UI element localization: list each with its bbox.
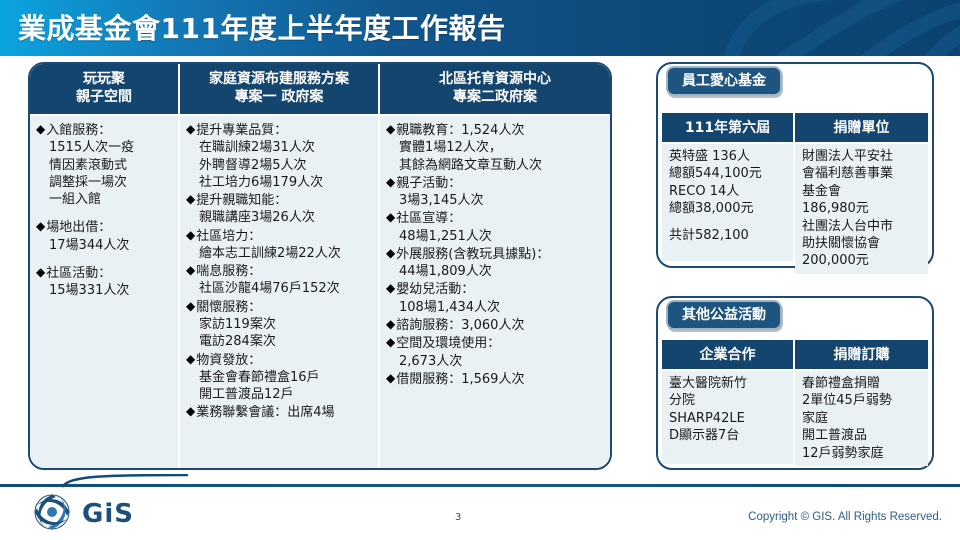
staff-fund-badge: 員工愛心基金 — [666, 66, 782, 96]
bullet-title-text: 諮詢服務：3,060人次 — [396, 317, 606, 334]
bullet-title: ◆親子活動： — [386, 175, 606, 192]
program-column-2-body: ◆提升專業品質：在職訓練2場31人次外聘督導2場5人次社工培力6場179人次◆提… — [180, 116, 378, 468]
bullet-subline: 家訪119案次 — [186, 316, 374, 333]
bullet-subline: 電訪284案次 — [186, 333, 374, 350]
bullet-title: ◆諮詢服務：3,060人次 — [386, 317, 606, 334]
bullet-item: ◆親職教育：1,524人次實體1場12人次，其餘為網路文章互動人次 — [386, 122, 606, 174]
bullet-item: ◆借閱服務：1,569人次 — [386, 371, 606, 388]
bullet-item: ◆社區培力：繪本志工訓練2場22人次 — [186, 228, 374, 263]
bullet-title-text: 關懷服務： — [196, 299, 374, 316]
bullet-subline: 調整採一場次 — [36, 174, 174, 191]
bullet-subline: 情因素滾動式 — [36, 157, 174, 174]
diamond-bullet-icon: ◆ — [386, 210, 395, 226]
donation-line: 開工普渡品 — [802, 427, 924, 444]
diamond-bullet-icon: ◆ — [186, 192, 195, 208]
staff-fund-line: 總額38,000元 — [669, 200, 789, 217]
bullet-item: ◆諮詢服務：3,060人次 — [386, 317, 606, 334]
bullet-subline: 44場1,809人次 — [386, 263, 606, 280]
diamond-bullet-icon: ◆ — [36, 265, 45, 281]
diamond-bullet-icon: ◆ — [386, 317, 395, 333]
bullet-title: ◆業務聯繫會議：出席4場 — [186, 404, 374, 421]
other-charity-table: 企業合作 臺大醫院新竹分院SHARP42LED顯示器7台 捐贈訂購 春節禮盒捐贈… — [662, 340, 928, 464]
bullet-title-text: 入館服務： — [46, 122, 174, 139]
corporate-line: SHARP42LE — [669, 410, 789, 427]
bullet-item: ◆社區活動：15場331人次 — [36, 265, 174, 300]
bullet-subline: 社區沙龍4場76戶152次 — [186, 280, 374, 297]
bullet-item: ◆空間及環境使用：2,673人次 — [386, 335, 606, 370]
bullet-title-text: 喘息服務： — [196, 263, 374, 280]
bullet-subline: 17場344人次 — [36, 237, 174, 254]
bullet-subline: 1515人次一疫 — [36, 139, 174, 156]
header-line-2: 親子空間 — [32, 88, 176, 106]
diamond-bullet-icon: ◆ — [186, 122, 195, 138]
donor-line: 會福利慈善事業 — [802, 165, 924, 182]
bullet-item: ◆外展服務(含教玩具據點)：44場1,809人次 — [386, 246, 606, 281]
staff-fund-line: 英特盛 136人 — [669, 148, 789, 165]
staff-fund-line: 總額544,100元 — [669, 165, 789, 182]
bullet-subline: 外聘督導2場5人次 — [186, 157, 374, 174]
bullet-title-text: 外展服務(含教玩具據點)： — [396, 246, 606, 263]
program-column-1-header: 玩玩聚親子空間 — [30, 64, 178, 116]
staff-fund-column-1: 111年第六屆 英特盛 136人總額544,100元RECO 14人總額38,0… — [662, 113, 795, 261]
donor-line: 社團法人台中市 — [802, 218, 924, 235]
bullet-title: ◆提升專業品質： — [186, 122, 374, 139]
bullet-title: ◆提升親職知能： — [186, 192, 374, 209]
staff-fund-col1-body: 英特盛 136人總額544,100元RECO 14人總額38,000元共計582… — [662, 144, 793, 261]
diamond-bullet-icon: ◆ — [386, 335, 395, 351]
header-line-1: 北區托育資源中心 — [382, 70, 608, 88]
bullet-subline: 基金會春節禮盒16戶 — [186, 369, 374, 386]
other-charity-badge: 其他公益活動 — [666, 300, 782, 330]
bullet-title: ◆關懷服務： — [186, 299, 374, 316]
bullet-title: ◆外展服務(含教玩具據點)： — [386, 246, 606, 263]
slide-root: 業成基金會111年度上半年度工作報告 玩玩聚親子空間◆入館服務：1515人次一疫… — [0, 0, 960, 540]
header-line-1: 家庭資源布建服務方案 — [182, 70, 376, 88]
bullet-subline: 社工培力6場179人次 — [186, 174, 374, 191]
other-charity-col2-body: 春節禮盒捐贈2單位45戶弱勢家庭開工普渡品12戶弱勢家庭 — [795, 371, 928, 466]
bullet-title: ◆親職教育：1,524人次 — [386, 122, 606, 139]
corporate-line: D顯示器7台 — [669, 427, 789, 444]
donation-line: 家庭 — [802, 410, 924, 427]
footer-divider — [0, 484, 960, 487]
bullet-item: ◆物資發放：基金會春節禮盒16戶開工普渡品12戶 — [186, 352, 374, 404]
bullet-title-text: 提升親職知能： — [196, 192, 374, 209]
program-column-1-body: ◆入館服務：1515人次一疫情因素滾動式調整採一場次一組入館◆場地出借：17場3… — [30, 116, 178, 468]
spacer — [36, 209, 174, 219]
diamond-bullet-icon: ◆ — [186, 352, 195, 368]
bullet-item: ◆提升親職知能：親職講座3場26人次 — [186, 192, 374, 227]
bullet-title-text: 借閱服務：1,569人次 — [396, 371, 606, 388]
bullet-subline: 15場331人次 — [36, 282, 174, 299]
program-columns: 玩玩聚親子空間◆入館服務：1515人次一疫情因素滾動式調整採一場次一組入館◆場地… — [30, 64, 610, 468]
diamond-bullet-icon: ◆ — [36, 122, 45, 138]
staff-fund-col2-body: 財團法人平安社會福利慈善事業基金會186,980元社團法人台中市助扶關懷協會20… — [795, 144, 928, 274]
header-line-2: 專案二政府案 — [382, 88, 608, 106]
staff-fund-line: 共計582,100 — [669, 227, 789, 244]
bullet-title-text: 親職教育：1,524人次 — [396, 122, 606, 139]
bullet-title-text: 嬰幼兒活動： — [396, 281, 606, 298]
bullet-title-text: 業務聯繫會議：出席4場 — [196, 404, 374, 421]
bullet-item: ◆親子活動：3場3,145人次 — [386, 175, 606, 210]
staff-fund-line: RECO 14人 — [669, 183, 789, 200]
bullet-subline: 實體1場12人次， — [386, 139, 606, 156]
bullet-item: ◆喘息服務：社區沙龍4場76戶152次 — [186, 263, 374, 298]
spacer — [669, 218, 789, 227]
diamond-bullet-icon: ◆ — [186, 404, 195, 420]
bullet-subline: 開工普渡品12戶 — [186, 386, 374, 403]
bullet-subline: 2,673人次 — [386, 353, 606, 370]
bullet-title-text: 社區培力： — [196, 228, 374, 245]
staff-fund-col1-header: 111年第六屆 — [662, 113, 793, 144]
diamond-bullet-icon: ◆ — [36, 219, 45, 235]
donation-line: 春節禮盒捐贈 — [802, 375, 924, 392]
donation-line: 2單位45戶弱勢 — [802, 392, 924, 409]
gis-logo-text: GiS — [82, 499, 134, 529]
bullet-item: ◆入館服務：1515人次一疫情因素滾動式調整採一場次一組入館 — [36, 122, 174, 208]
bullet-title-text: 社區活動： — [46, 265, 174, 282]
bullet-title: ◆空間及環境使用： — [386, 335, 606, 352]
diamond-bullet-icon: ◆ — [386, 281, 395, 297]
copyright-text: Copyright © GIS. All Rights Reserved. — [748, 511, 942, 523]
bullet-subline: 48場1,251人次 — [386, 228, 606, 245]
donor-line: 財團法人平安社 — [802, 148, 924, 165]
program-column-3-body: ◆親職教育：1,524人次實體1場12人次，其餘為網路文章互動人次◆親子活動：3… — [380, 116, 610, 468]
bullet-title: ◆社區培力： — [186, 228, 374, 245]
other-charity-col1-header: 企業合作 — [662, 340, 793, 371]
program-column-1: 玩玩聚親子空間◆入館服務：1515人次一疫情因素滾動式調整採一場次一組入館◆場地… — [30, 64, 180, 468]
bullet-subline: 繪本志工訓練2場22人次 — [186, 245, 374, 262]
other-charity-col2-header: 捐贈訂購 — [795, 340, 928, 371]
page-number: 3 — [455, 512, 461, 523]
other-charity-column-1: 企業合作 臺大醫院新竹分院SHARP42LED顯示器7台 — [662, 340, 795, 464]
bullet-subline: 在職訓練2場31人次 — [186, 139, 374, 156]
bullet-subline: 3場3,145人次 — [386, 192, 606, 209]
swoosh-decoration-icon — [710, 0, 960, 56]
diamond-bullet-icon: ◆ — [386, 246, 395, 262]
bullet-item: ◆嬰幼兒活動：108場1,434人次 — [386, 281, 606, 316]
corporate-line: 臺大醫院新竹 — [669, 375, 789, 392]
bullet-item: ◆關懷服務：家訪119案次電訪284案次 — [186, 299, 374, 351]
bullet-title-text: 場地出借： — [46, 219, 174, 236]
bullet-subline: 一組入館 — [36, 191, 174, 208]
bullet-title: ◆喘息服務： — [186, 263, 374, 280]
staff-fund-table: 111年第六屆 英特盛 136人總額544,100元RECO 14人總額38,0… — [662, 113, 928, 261]
spacer — [36, 255, 174, 265]
bullet-subline: 其餘為網路文章互動人次 — [386, 157, 606, 174]
bullet-title: ◆嬰幼兒活動： — [386, 281, 606, 298]
program-column-2: 家庭資源布建服務方案專案一 政府案◆提升專業品質：在職訓練2場31人次外聘督導2… — [180, 64, 380, 468]
page-title: 業成基金會111年度上半年度工作報告 — [18, 7, 505, 47]
header-line-1: 玩玩聚 — [32, 70, 176, 88]
main-content-panel: 玩玩聚親子空間◆入館服務：1515人次一疫情因素滾動式調整採一場次一組入館◆場地… — [28, 62, 612, 470]
diamond-bullet-icon: ◆ — [386, 371, 395, 387]
bullet-title-text: 空間及環境使用： — [396, 335, 606, 352]
bullet-item: ◆社區宣導：48場1,251人次 — [386, 210, 606, 245]
bullet-title: ◆物資發放： — [186, 352, 374, 369]
bullet-title-text: 物資發放： — [196, 352, 374, 369]
bullet-item: ◆場地出借：17場344人次 — [36, 219, 174, 254]
donor-line: 200,000元 — [802, 252, 924, 269]
slide-title-bar: 業成基金會111年度上半年度工作報告 — [0, 0, 960, 56]
gis-logo-icon: GiS — [30, 492, 190, 532]
program-column-3-header: 北區托育資源中心專案二政府案 — [380, 64, 610, 116]
donation-line: 12戶弱勢家庭 — [802, 445, 924, 462]
bullet-title-text: 提升專業品質： — [196, 122, 374, 139]
other-charity-col1-body: 臺大醫院新竹分院SHARP42LED顯示器7台 — [662, 371, 793, 464]
bullet-subline: 108場1,434人次 — [386, 299, 606, 316]
bullet-title: ◆場地出借： — [36, 219, 174, 236]
bullet-title-text: 親子活動： — [396, 175, 606, 192]
diamond-bullet-icon: ◆ — [186, 299, 195, 315]
program-column-2-header: 家庭資源布建服務方案專案一 政府案 — [180, 64, 378, 116]
other-charity-column-2: 捐贈訂購 春節禮盒捐贈2單位45戶弱勢家庭開工普渡品12戶弱勢家庭 — [795, 340, 928, 464]
diamond-bullet-icon: ◆ — [386, 122, 395, 138]
diamond-bullet-icon: ◆ — [186, 228, 195, 244]
staff-fund-col2-header: 捐贈單位 — [795, 113, 928, 144]
diamond-bullet-icon: ◆ — [386, 175, 395, 191]
donor-line: 助扶關懷協會 — [802, 235, 924, 252]
bullet-item: ◆業務聯繫會議：出席4場 — [186, 404, 374, 421]
header-line-2: 專案一 政府案 — [182, 88, 376, 106]
donor-line: 186,980元 — [802, 200, 924, 217]
bullet-title: ◆社區宣導： — [386, 210, 606, 227]
diamond-bullet-icon: ◆ — [186, 263, 195, 279]
staff-fund-column-2: 捐贈單位 財團法人平安社會福利慈善事業基金會186,980元社團法人台中市助扶關… — [795, 113, 928, 261]
donor-line: 基金會 — [802, 183, 924, 200]
program-column-3: 北區托育資源中心專案二政府案◆親職教育：1,524人次實體1場12人次，其餘為網… — [380, 64, 610, 468]
bullet-title: ◆借閱服務：1,569人次 — [386, 371, 606, 388]
bullet-subline: 親職講座3場26人次 — [186, 209, 374, 226]
corporate-line: 分院 — [669, 392, 789, 409]
bullet-title-text: 社區宣導： — [396, 210, 606, 227]
bullet-item: ◆提升專業品質：在職訓練2場31人次外聘督導2場5人次社工培力6場179人次 — [186, 122, 374, 191]
bullet-title: ◆入館服務： — [36, 122, 174, 139]
bullet-title: ◆社區活動： — [36, 265, 174, 282]
